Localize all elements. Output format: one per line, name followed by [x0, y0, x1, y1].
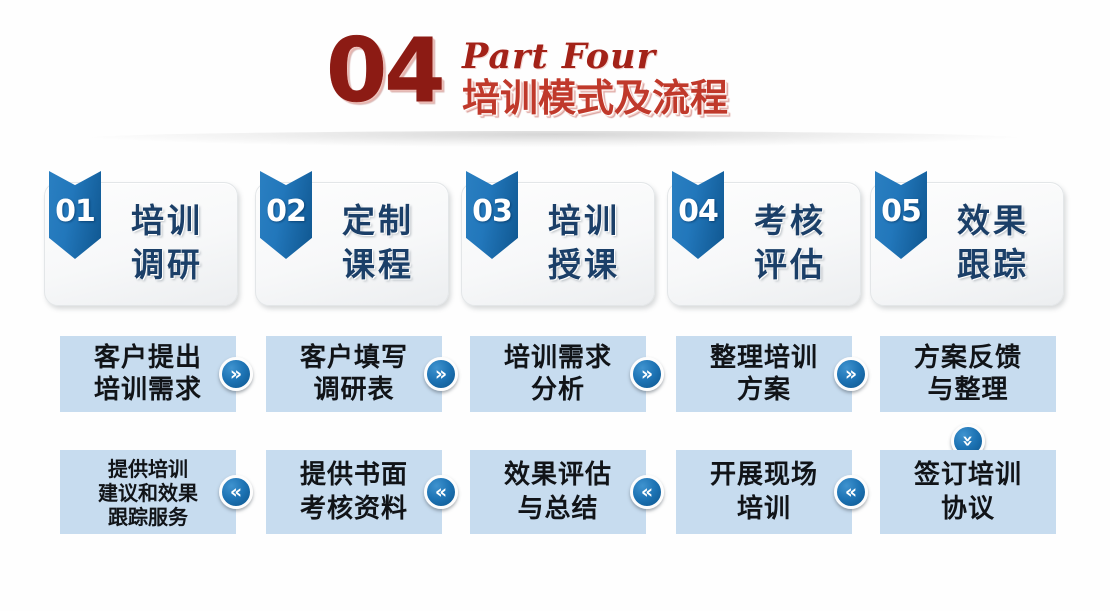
double-chevron-left-icon-2[interactable]	[424, 475, 458, 509]
page-title-number: 04	[326, 27, 442, 115]
page-title: 培训模式及流程	[462, 78, 728, 118]
flow-forward-box-5-line2: 与整理	[880, 374, 1056, 406]
step-label-04: 考核 评估	[724, 199, 856, 287]
step-label-03-line1: 培训	[518, 199, 650, 243]
step-label-05: 效果 跟踪	[927, 199, 1059, 287]
step-number-01: 01	[49, 197, 101, 227]
flow-back-box-5-line2: 协议	[880, 492, 1056, 526]
step-card-03[interactable]: 03 培训 授课	[461, 182, 655, 306]
flow-back-box-1-line3: 跟踪服务	[60, 505, 236, 529]
flow-back-box-2-line2: 考核资料	[266, 492, 442, 526]
step-label-02: 定制 课程	[312, 199, 444, 287]
double-chevron-right-icon-3[interactable]	[630, 357, 664, 391]
flow-back-box-2-line1: 提供书面	[266, 458, 442, 492]
flow-back-box-1-line1: 提供培训	[60, 457, 236, 481]
ribbon-badge-04: 04	[672, 171, 724, 259]
flow-forward-box-3-line2: 分析	[470, 374, 646, 406]
ribbon-badge-02: 02	[260, 171, 312, 259]
title-divider	[75, 131, 1035, 147]
ribbon-badge-05: 05	[875, 171, 927, 259]
step-label-02-line2: 课程	[312, 243, 444, 287]
step-label-04-line1: 考核	[724, 199, 856, 243]
flow-forward-box-1-line1: 客户提出	[60, 342, 236, 374]
flow-back-box-2[interactable]: 提供书面 考核资料	[266, 450, 442, 534]
flow-forward-box-4-line1: 整理培训	[676, 342, 852, 374]
flow-back-box-3[interactable]: 效果评估 与总结	[470, 450, 646, 534]
flow-back-box-3-line1: 效果评估	[470, 458, 646, 492]
step-cards-row: 01 培训 调研 02 定制 课程 03 培训 授课	[0, 168, 1110, 318]
step-number-05: 05	[875, 197, 927, 227]
step-label-03-line2: 授课	[518, 243, 650, 287]
flow-back-box-5[interactable]: 签订培训 协议	[880, 450, 1056, 534]
flow-forward-box-4[interactable]: 整理培训 方案	[676, 336, 852, 412]
flow-forward-box-4-line2: 方案	[676, 374, 852, 406]
flow-back-box-5-line1: 签订培训	[880, 458, 1056, 492]
flow-forward-box-1[interactable]: 客户提出 培训需求	[60, 336, 236, 412]
flow-forward-box-1-line2: 培训需求	[60, 374, 236, 406]
step-label-04-line2: 评估	[724, 243, 856, 287]
step-label-01-line2: 调研	[101, 243, 233, 287]
flow-back-box-3-line2: 与总结	[470, 492, 646, 526]
double-chevron-right-icon-4[interactable]	[834, 357, 868, 391]
flow-row-forward: 客户提出 培训需求 客户填写 调研表 培训需求 分析 整理培训 方案 方案反馈 …	[0, 336, 1110, 414]
step-number-02: 02	[260, 197, 312, 227]
step-number-03: 03	[466, 197, 518, 227]
flow-back-box-1-line2: 建议和效果	[60, 481, 236, 505]
double-chevron-left-icon-3[interactable]	[630, 475, 664, 509]
step-label-01-line1: 培训	[101, 199, 233, 243]
flow-back-box-4[interactable]: 开展现场 培训	[676, 450, 852, 534]
step-label-05-line1: 效果	[927, 199, 1059, 243]
flow-forward-box-2[interactable]: 客户填写 调研表	[266, 336, 442, 412]
flow-back-box-1[interactable]: 提供培训 建议和效果 跟踪服务	[60, 450, 236, 534]
flow-forward-box-2-line1: 客户填写	[266, 342, 442, 374]
step-card-05[interactable]: 05 效果 跟踪	[870, 182, 1064, 306]
flow-forward-box-3[interactable]: 培训需求 分析	[470, 336, 646, 412]
step-label-05-line2: 跟踪	[927, 243, 1059, 287]
step-card-01[interactable]: 01 培训 调研	[44, 182, 238, 306]
slide-canvas: 04 Part Four 培训模式及流程 01 培训 调研 02 定制 课程	[0, 0, 1110, 611]
flow-back-box-4-line2: 培训	[676, 492, 852, 526]
step-label-02-line1: 定制	[312, 199, 444, 243]
double-chevron-right-icon-1[interactable]	[219, 357, 253, 391]
flow-row-back: 提供培训 建议和效果 跟踪服务 提供书面 考核资料 效果评估 与总结 开展现场 …	[0, 450, 1110, 542]
step-label-03: 培训 授课	[518, 199, 650, 287]
flow-forward-box-5[interactable]: 方案反馈 与整理	[880, 336, 1056, 412]
flow-back-box-4-line1: 开展现场	[676, 458, 852, 492]
ribbon-badge-01: 01	[49, 171, 101, 259]
double-chevron-left-icon-1[interactable]	[219, 475, 253, 509]
step-card-02[interactable]: 02 定制 课程	[255, 182, 449, 306]
step-label-01: 培训 调研	[101, 199, 233, 287]
step-number-04: 04	[672, 197, 724, 227]
step-card-04[interactable]: 04 考核 评估	[667, 182, 861, 306]
flow-forward-box-5-line1: 方案反馈	[880, 342, 1056, 374]
double-chevron-right-icon-2[interactable]	[424, 357, 458, 391]
slide-title-block: 04 Part Four 培训模式及流程	[0, 0, 1110, 150]
double-chevron-left-icon-4[interactable]	[834, 475, 868, 509]
page-title-english: Part Four	[462, 39, 656, 74]
ribbon-badge-03: 03	[466, 171, 518, 259]
flow-forward-box-3-line1: 培训需求	[470, 342, 646, 374]
flow-forward-box-2-line2: 调研表	[266, 374, 442, 406]
